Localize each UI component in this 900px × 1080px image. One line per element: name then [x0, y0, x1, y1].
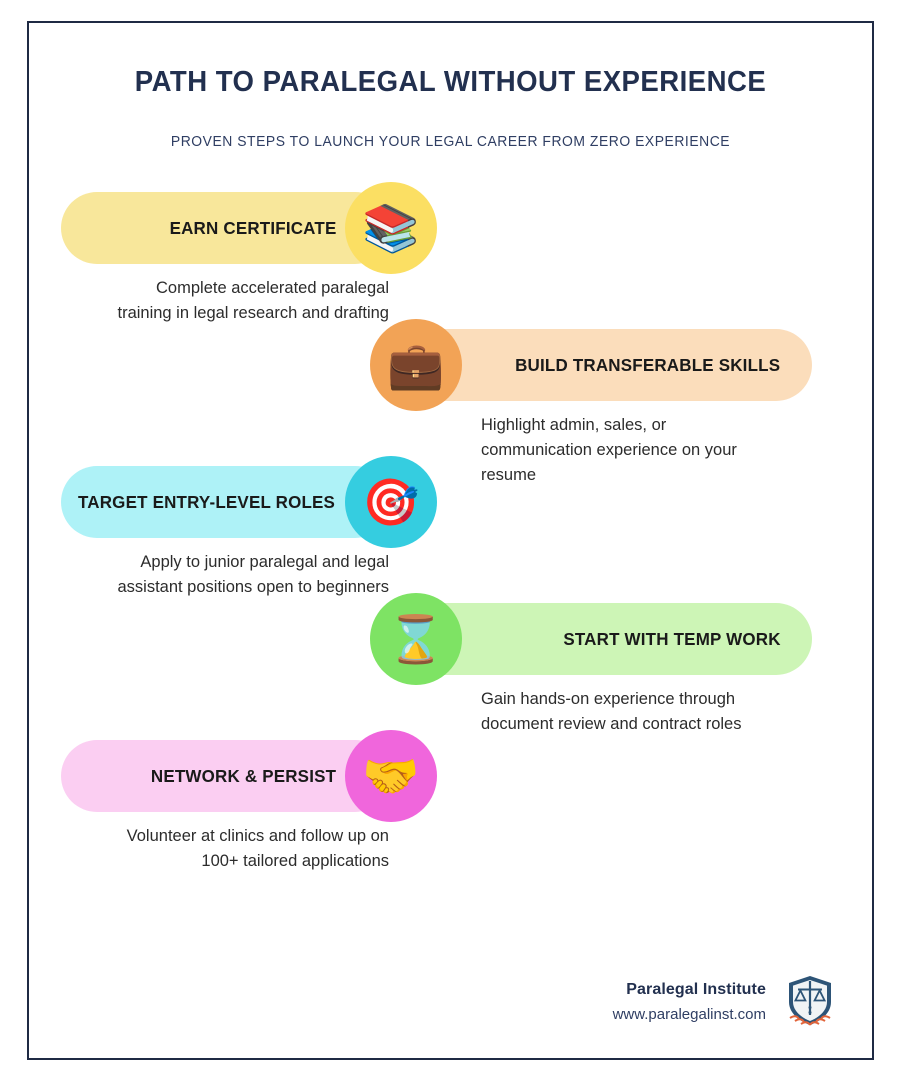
- step-5-description: Volunteer at clinics and follow up on 10…: [111, 824, 389, 874]
- dart-target-icon: 🎯: [345, 456, 437, 548]
- step-3-description: Apply to junior paralegal and legal assi…: [111, 550, 389, 600]
- brand-name: Paralegal Institute: [613, 981, 766, 999]
- books-icon: 📚: [345, 182, 437, 274]
- page-subtitle: PROVEN STEPS TO LAUNCH YOUR LEGAL CAREER…: [46, 134, 855, 150]
- step-2-label: BUILD TRANSFERABLE SKILLS: [515, 355, 780, 376]
- step-4-description: Gain hands-on experience through documen…: [481, 687, 781, 737]
- footer-text-block: Paralegal Institute www.paralegalinst.co…: [613, 981, 766, 1023]
- steps-list: EARN CERTIFICATE📚Complete accelerated pa…: [29, 192, 872, 952]
- hourglass-icon: ⌛: [370, 593, 462, 685]
- footer-branding: Paralegal Institute www.paralegalinst.co…: [613, 974, 836, 1030]
- infographic-poster: PATH TO PARALEGAL WITHOUT EXPERIENCE PRO…: [27, 21, 874, 1060]
- step-1-label: EARN CERTIFICATE: [170, 218, 337, 239]
- page-title: PATH TO PARALEGAL WITHOUT EXPERIENCE: [50, 66, 851, 99]
- scales-of-justice-shield-logo-icon: [784, 974, 836, 1030]
- step-3-pill[interactable]: TARGET ENTRY-LEVEL ROLES: [61, 466, 391, 538]
- briefcase-icon: 💼: [370, 319, 462, 411]
- step-5-label: NETWORK & PERSIST: [151, 766, 336, 787]
- step-2-description: Highlight admin, sales, or communication…: [481, 413, 781, 488]
- brand-url: www.paralegalinst.com: [613, 1006, 766, 1023]
- poster-header: PATH TO PARALEGAL WITHOUT EXPERIENCE PRO…: [29, 23, 872, 150]
- handshake-icon: 🤝: [345, 730, 437, 822]
- step-3-label: TARGET ENTRY-LEVEL ROLES: [78, 492, 335, 513]
- step-5-pill[interactable]: NETWORK & PERSIST: [61, 740, 391, 812]
- step-1-pill[interactable]: EARN CERTIFICATE: [61, 192, 391, 264]
- step-4-label: START WITH TEMP WORK: [563, 629, 780, 650]
- step-1-description: Complete accelerated paralegal training …: [111, 276, 389, 326]
